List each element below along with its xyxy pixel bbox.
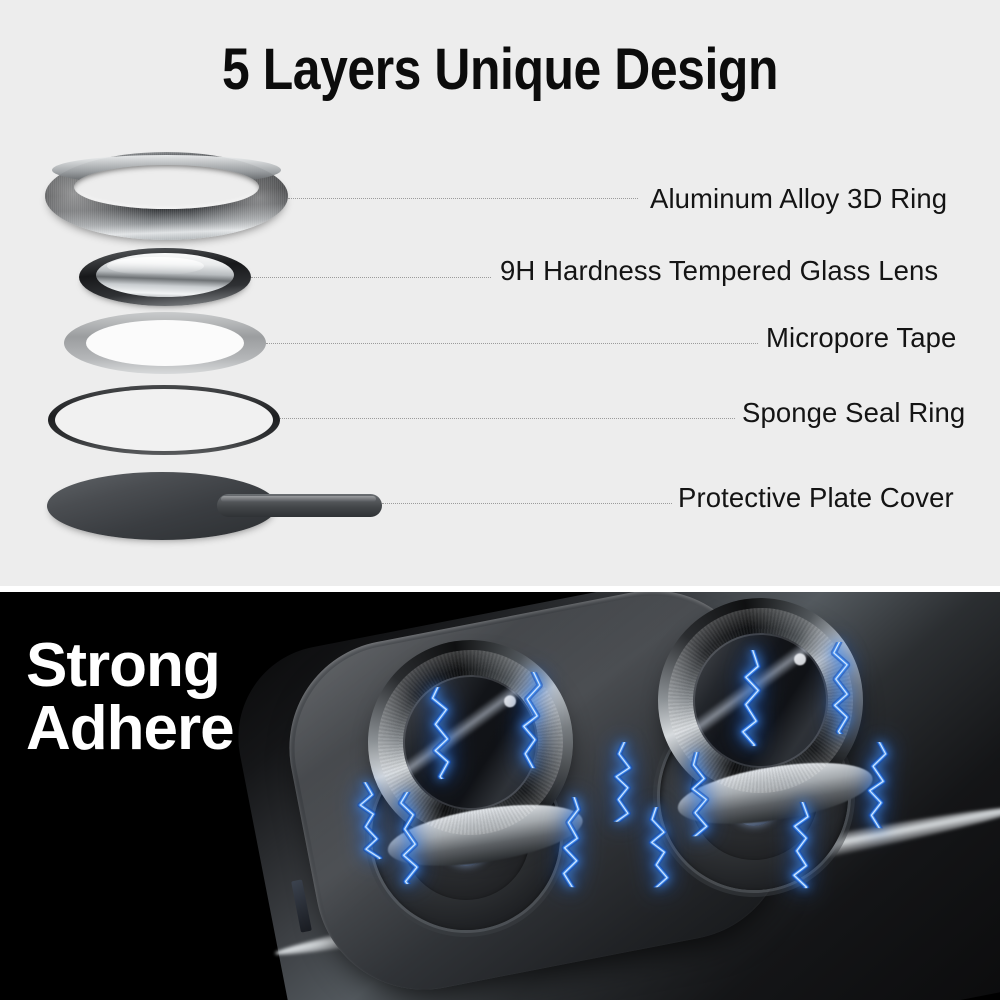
product-infographic: 5 Layers Unique Design Aluminum Alloy 3D… (0, 0, 1000, 1000)
protective-plate-pull-tab (217, 494, 382, 517)
layer-label-4: Sponge Seal Ring (742, 397, 965, 429)
glass-lens-disc-icon (79, 248, 251, 306)
sponge-ring-void (55, 389, 273, 451)
alloy-ring-hole (74, 165, 259, 209)
glass-lens-surface (96, 253, 234, 297)
headline-line-2: Adhere (26, 697, 234, 760)
leader-line-2 (251, 277, 491, 278)
sponge-seal-ring-icon (48, 385, 280, 455)
strong-adhere-panel: Strong Adhere (0, 592, 1000, 1000)
leader-line-5 (382, 503, 672, 504)
tape-ring-void (86, 320, 244, 366)
layer-label-5: Protective Plate Cover (678, 482, 954, 514)
leader-line-1 (288, 198, 638, 199)
layer-label-2: 9H Hardness Tempered Glass Lens (500, 255, 938, 287)
protective-plate-icon (47, 472, 382, 540)
layer-label-3: Micropore Tape (766, 322, 956, 354)
tape-ring-icon (64, 312, 266, 374)
alloy-ring-3d-icon (45, 152, 288, 240)
page-title: 5 Layers Unique Design (70, 36, 930, 103)
layers-diagram-panel: 5 Layers Unique Design Aluminum Alloy 3D… (0, 0, 1000, 586)
headline: Strong Adhere (26, 634, 234, 760)
leader-line-3 (266, 343, 758, 344)
headline-line-1: Strong (26, 634, 234, 697)
leader-line-4 (280, 418, 735, 419)
layer-label-1: Aluminum Alloy 3D Ring (650, 183, 947, 215)
